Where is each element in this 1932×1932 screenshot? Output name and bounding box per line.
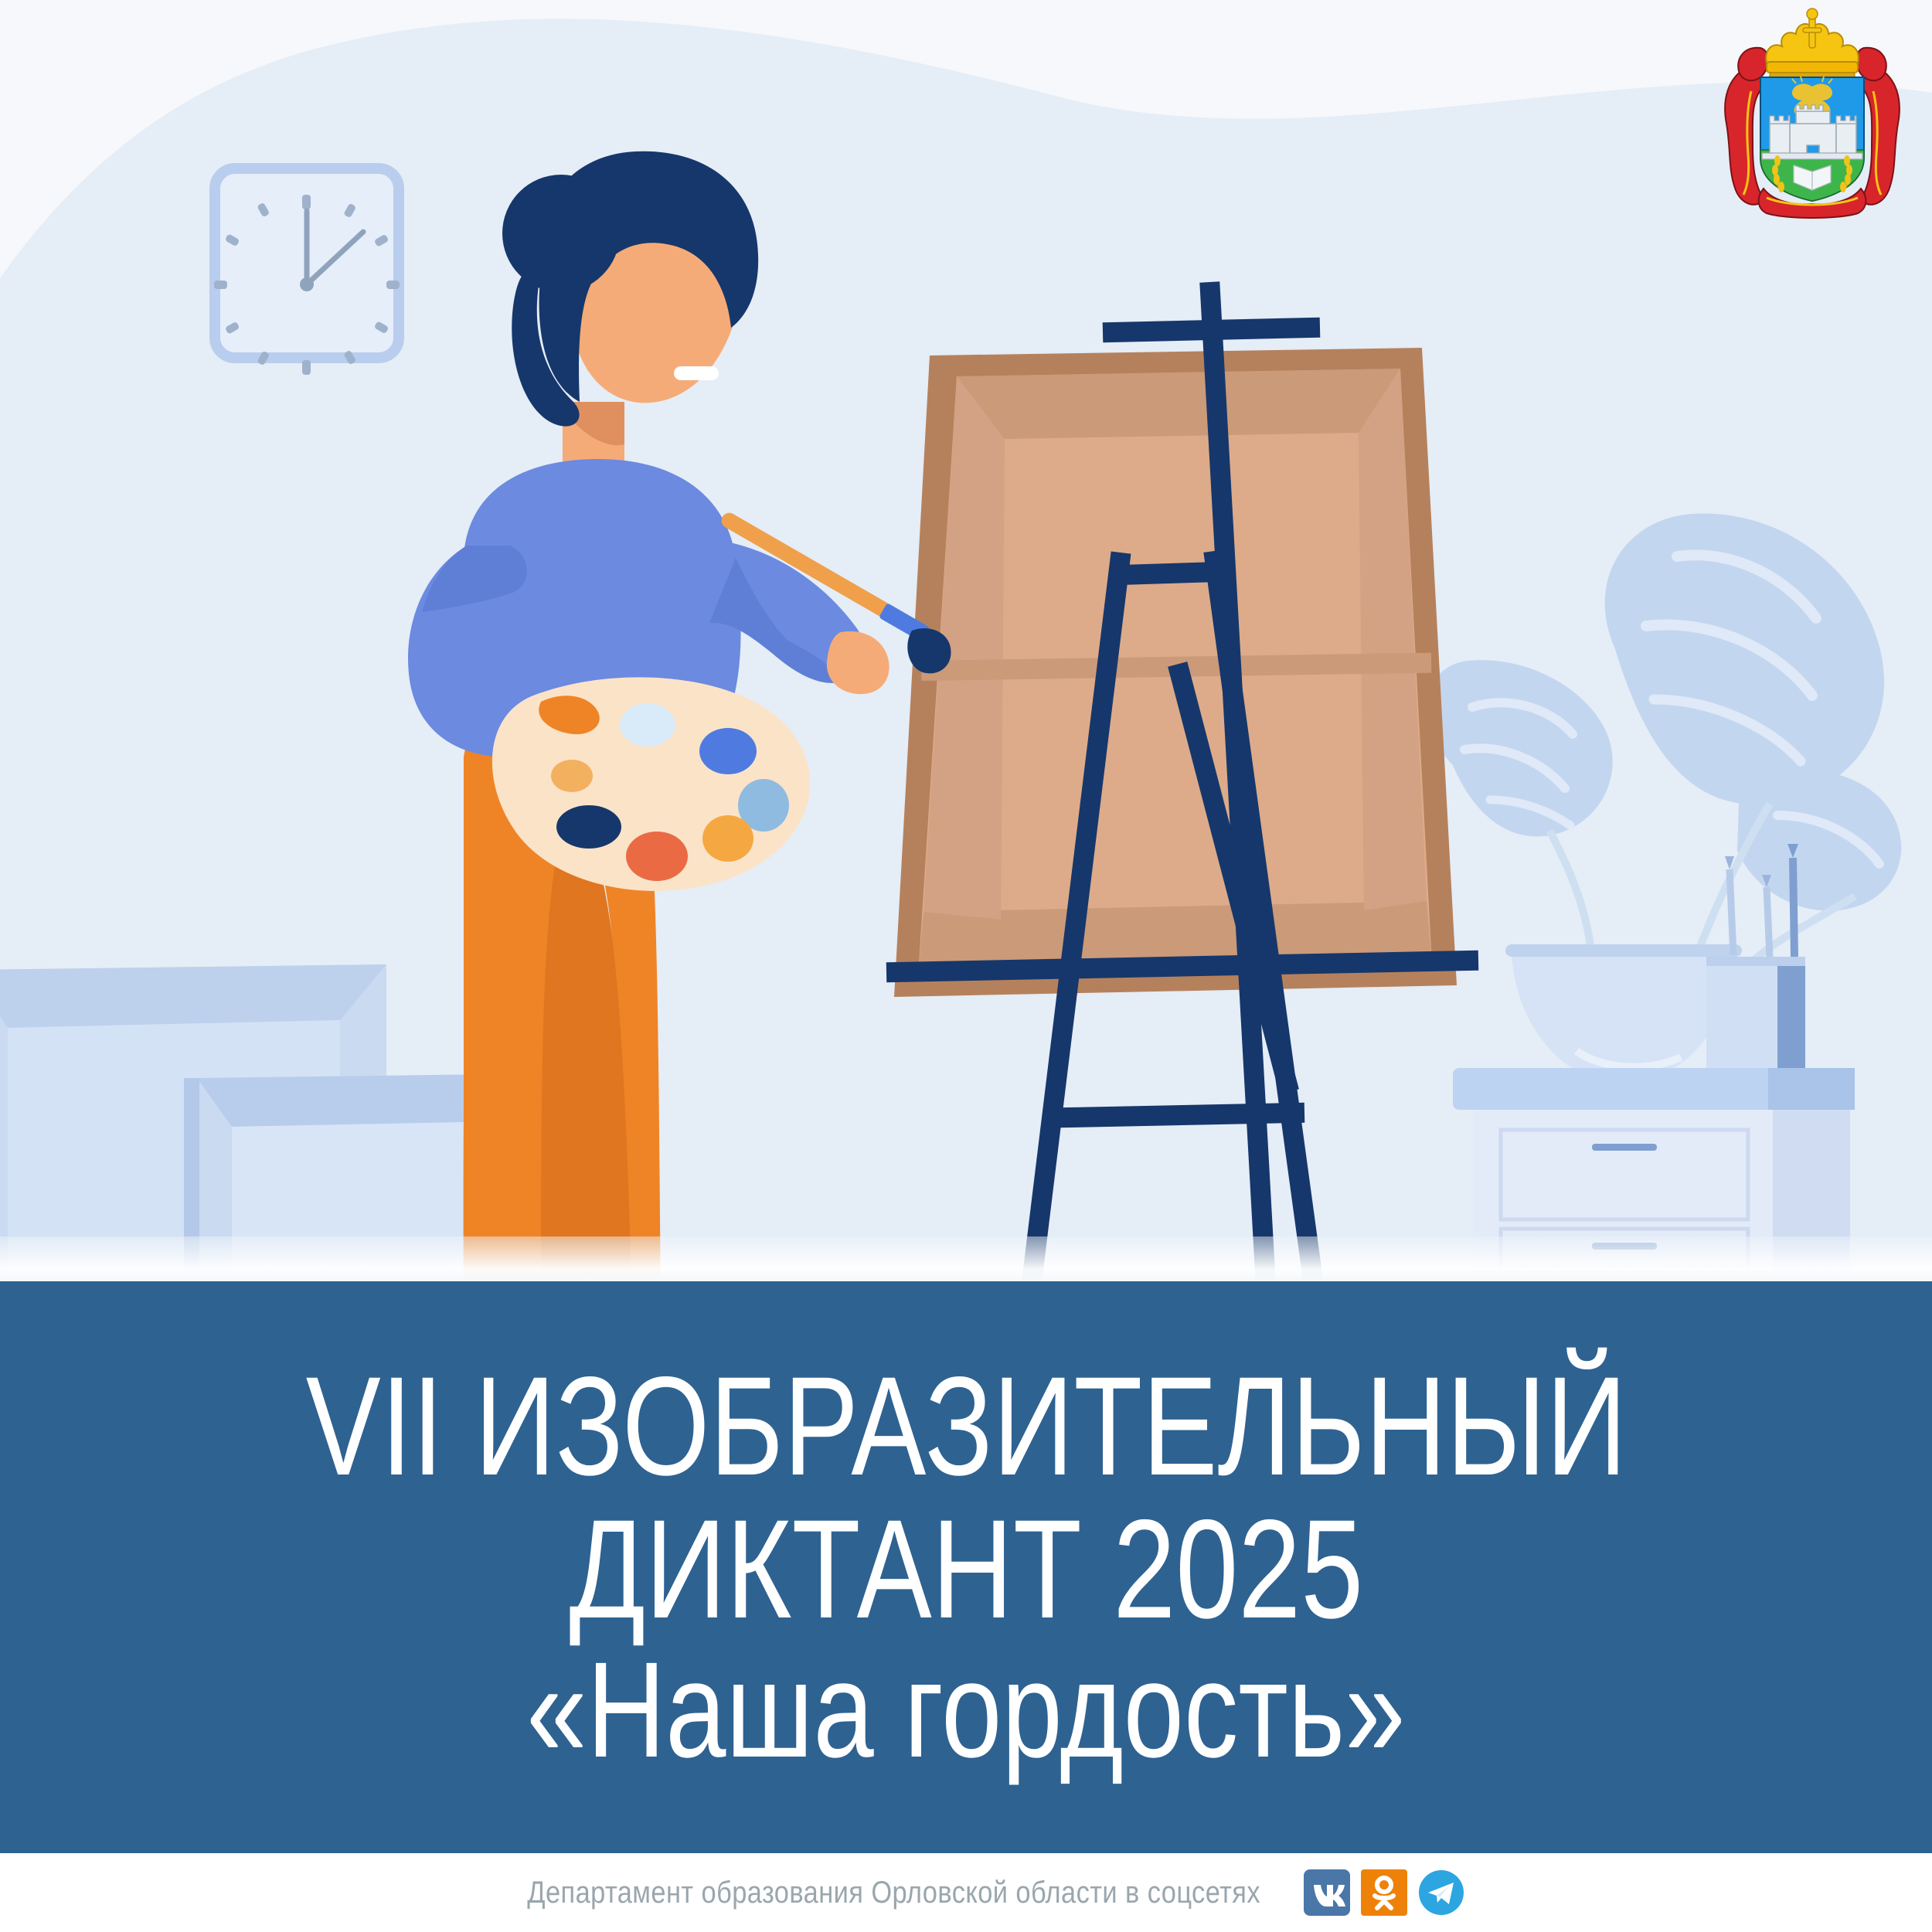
title-line-1: VII ИЗОБРАЗИТЕЛЬНЫЙ — [305, 1355, 1627, 1498]
shield — [1760, 77, 1864, 201]
paint-dab-lightorange — [551, 760, 593, 792]
paint-dab-orange — [702, 815, 753, 862]
wall-clock — [214, 168, 400, 375]
paint-dab-navy — [556, 805, 621, 849]
crown-icon — [1766, 9, 1859, 78]
paint-dab-red — [626, 832, 688, 881]
title-line-3: «Наша гордость» — [526, 1641, 1405, 1781]
artist-hair-bun — [502, 175, 620, 292]
footer-bar: Департамент образования Орловской област… — [0, 1853, 1932, 1932]
title-banner: VII ИЗОБРАЗИТЕЛЬНЫЙ ДИКТАНТ 2025 «Наша г… — [0, 1281, 1932, 1853]
ok-icon[interactable] — [1361, 1869, 1407, 1916]
poster-root: VII ИЗОБРАЗИТЕЛЬНЫЙ ДИКТАНТ 2025 «Наша г… — [0, 0, 1932, 1932]
artist-mouth — [674, 366, 719, 380]
illustration-stage — [0, 0, 1932, 1314]
paint-dab-lightblue — [620, 703, 675, 747]
title-line-2: ДИКТАНТ 2025 — [569, 1498, 1363, 1641]
bottom-fade — [0, 1236, 1932, 1283]
telegram-icon[interactable] — [1418, 1869, 1464, 1916]
vk-icon[interactable] — [1304, 1869, 1350, 1916]
footer-text: Департамент образования Орловской област… — [528, 1876, 1261, 1910]
oryol-coat-of-arms — [1716, 6, 1909, 219]
paint-dab-blue — [699, 728, 757, 774]
social-links — [1304, 1869, 1464, 1916]
